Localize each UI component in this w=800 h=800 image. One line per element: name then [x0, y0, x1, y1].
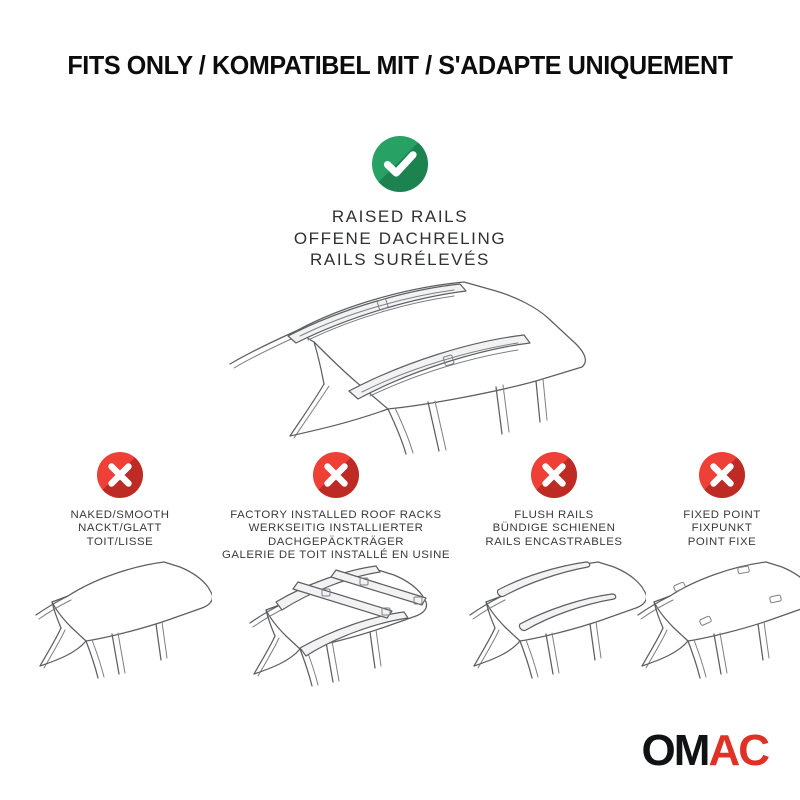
incompatible-section: NAKED/SMOOTH NACKT/GLATT TOIT/LISSE [0, 452, 800, 752]
item-label-fr: RAILS ENCASTRABLES [462, 536, 646, 549]
car-roof-flush-rails-illustration [462, 554, 646, 709]
compatible-label-de: OFFENE DACHRELING [0, 228, 800, 250]
item-label-de: BÜNDIGE SCHIENEN [462, 522, 646, 535]
check-circle-icon [372, 136, 428, 192]
incompatible-item-factory-rack: FACTORY INSTALLED ROOF RACKS WERKSEITIG … [212, 452, 460, 563]
item-label-de: FIXPUNKT [646, 522, 798, 535]
check-glyph [372, 136, 428, 192]
item-labels: FLUSH RAILS BÜNDIGE SCHIENEN RAILS ENCAS… [462, 509, 646, 549]
item-labels: FIXED POINT FIXPUNKT POINT FIXE [646, 509, 798, 549]
compatible-label-en: RAISED RAILS [0, 206, 800, 228]
header: FITS ONLY / KOMPATIBEL MIT / S'ADAPTE UN… [0, 52, 800, 81]
x-circle-icon [531, 452, 577, 498]
incompatible-item-flush-rails: FLUSH RAILS BÜNDIGE SCHIENEN RAILS ENCAS… [462, 452, 646, 549]
item-label-de: NACKT/GLATT [28, 522, 212, 535]
x-glyph [531, 452, 577, 498]
x-glyph [699, 452, 745, 498]
incompatible-item-naked-smooth: NAKED/SMOOTH NACKT/GLATT TOIT/LISSE [28, 452, 212, 549]
car-roof-raised-rails-illustration [196, 278, 606, 458]
car-roof-bare-illustration [28, 554, 212, 709]
compatible-label-fr: RAILS SURÉLEVÉS [0, 249, 800, 271]
omac-logo: OMAC [642, 729, 768, 773]
item-label-en: FLUSH RAILS [462, 509, 646, 522]
x-glyph [313, 452, 359, 498]
page-title: FITS ONLY / KOMPATIBEL MIT / S'ADAPTE UN… [6, 52, 794, 81]
car-roof-fixed-point-illustration [630, 554, 800, 709]
item-label-en: NAKED/SMOOTH [28, 509, 212, 522]
item-label-fr: POINT FIXE [646, 536, 798, 549]
item-label-en: FACTORY INSTALLED ROOF RACKS [212, 509, 460, 522]
car-roof-factory-rack-illustration [236, 548, 436, 709]
compatible-section: RAISED RAILS OFFENE DACHRELING RAILS SUR… [0, 136, 800, 271]
x-circle-icon [313, 452, 359, 498]
item-label-fr: TOIT/LISSE [28, 536, 212, 549]
logo-text-red: AC [708, 726, 768, 775]
item-labels: NAKED/SMOOTH NACKT/GLATT TOIT/LISSE [28, 509, 212, 549]
x-circle-icon [97, 452, 143, 498]
item-label-de-1: WERKSEITIG INSTALLIERTER [212, 522, 460, 535]
logo-text-dark: OM [642, 726, 709, 775]
incompatible-item-fixed-point: FIXED POINT FIXPUNKT POINT FIXE [646, 452, 798, 549]
compatible-labels: RAISED RAILS OFFENE DACHRELING RAILS SUR… [0, 206, 800, 271]
item-label-en: FIXED POINT [646, 509, 798, 522]
x-circle-icon [699, 452, 745, 498]
x-glyph [97, 452, 143, 498]
